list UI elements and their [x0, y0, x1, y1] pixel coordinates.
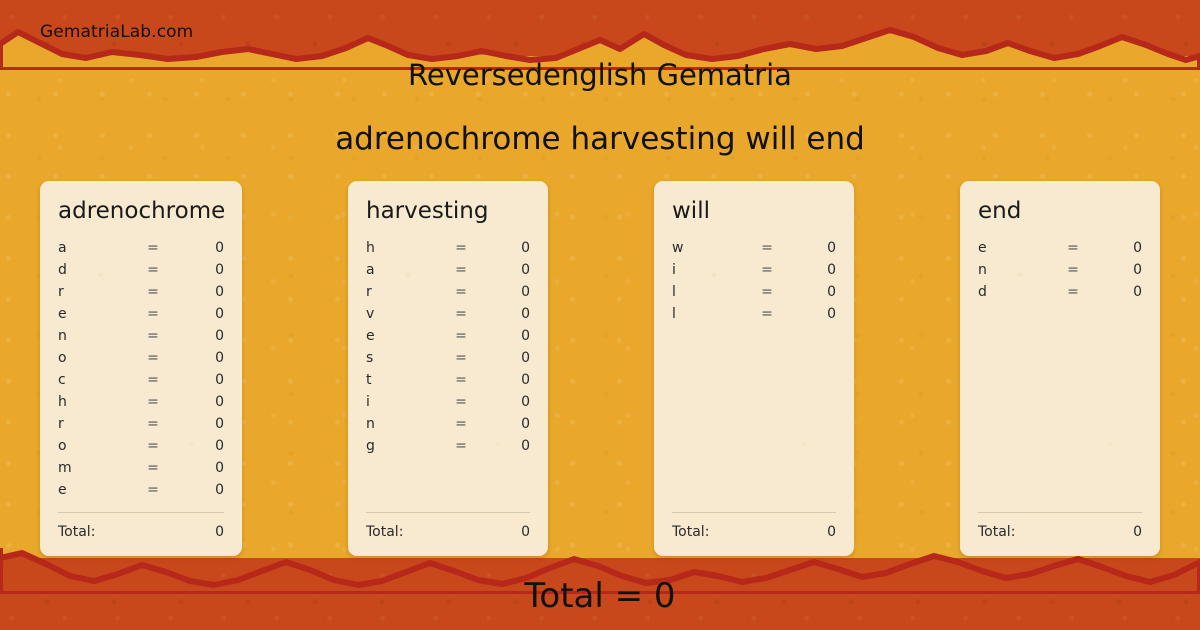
- letter-value: 0: [170, 350, 224, 366]
- letter-value: 0: [478, 328, 530, 344]
- letter-row: e=0: [978, 240, 1142, 262]
- letter-row: i=0: [366, 394, 530, 416]
- equals-sign: =: [444, 284, 478, 300]
- card-divider: [366, 512, 530, 513]
- letter-row: r=0: [58, 416, 224, 438]
- letter-label: l: [672, 284, 750, 300]
- card-total-value: 0: [521, 524, 530, 540]
- card-total-label: Total:: [366, 524, 521, 540]
- letter-row: t=0: [366, 372, 530, 394]
- letter-label: n: [58, 328, 136, 344]
- letter-value: 0: [170, 240, 224, 256]
- card-total-row: Total:0: [978, 524, 1142, 542]
- letter-row: d=0: [58, 262, 224, 284]
- letter-row: n=0: [58, 328, 224, 350]
- letter-row: d=0: [978, 284, 1142, 306]
- letter-value: 0: [170, 372, 224, 388]
- equals-sign: =: [750, 240, 784, 256]
- letter-value: 0: [784, 306, 836, 322]
- letter-row: h=0: [58, 394, 224, 416]
- letter-value: 0: [170, 438, 224, 454]
- letter-label: a: [58, 240, 136, 256]
- letter-label: a: [366, 262, 444, 278]
- letter-row: m=0: [58, 460, 224, 482]
- equals-sign: =: [1056, 284, 1090, 300]
- gematria-result-page: GematriaLab.com Reversedenglish Gematria…: [0, 0, 1200, 630]
- letter-label: h: [366, 240, 444, 256]
- letter-row: e=0: [58, 306, 224, 328]
- letter-value: 0: [478, 372, 530, 388]
- card-total-value: 0: [1133, 524, 1142, 540]
- letter-value: 0: [170, 262, 224, 278]
- letter-label: e: [58, 482, 136, 498]
- equals-sign: =: [444, 394, 478, 410]
- equals-sign: =: [136, 240, 170, 256]
- card-word: end: [978, 197, 1142, 226]
- grand-total: Total = 0: [0, 576, 1200, 616]
- letter-value: 0: [170, 284, 224, 300]
- letter-value: 0: [170, 416, 224, 432]
- letter-label: s: [366, 350, 444, 366]
- equals-sign: =: [136, 372, 170, 388]
- equals-sign: =: [444, 350, 478, 366]
- letter-row: r=0: [58, 284, 224, 306]
- letter-label: m: [58, 460, 136, 476]
- equals-sign: =: [136, 482, 170, 498]
- equals-sign: =: [444, 438, 478, 454]
- card-total-value: 0: [827, 524, 836, 540]
- letter-row-list: h=0a=0r=0v=0e=0s=0t=0i=0n=0g=0: [366, 240, 530, 512]
- equals-sign: =: [444, 306, 478, 322]
- equals-sign: =: [750, 284, 784, 300]
- letter-label: d: [978, 284, 1056, 300]
- letter-value: 0: [478, 262, 530, 278]
- letter-value: 0: [478, 438, 530, 454]
- equals-sign: =: [750, 306, 784, 322]
- letter-row: e=0: [366, 328, 530, 350]
- card-divider: [58, 512, 224, 513]
- letter-value: 0: [478, 416, 530, 432]
- letter-value: 0: [784, 262, 836, 278]
- card-total-row: Total:0: [366, 524, 530, 542]
- letter-value: 0: [170, 482, 224, 498]
- equals-sign: =: [136, 438, 170, 454]
- letter-row: n=0: [978, 262, 1142, 284]
- card-total-label: Total:: [672, 524, 827, 540]
- letter-row: c=0: [58, 372, 224, 394]
- equals-sign: =: [444, 240, 478, 256]
- letter-label: r: [366, 284, 444, 300]
- letter-row: o=0: [58, 350, 224, 372]
- card-total-value: 0: [215, 524, 224, 540]
- letter-row: g=0: [366, 438, 530, 460]
- letter-value: 0: [170, 460, 224, 476]
- equals-sign: =: [1056, 262, 1090, 278]
- card-word: will: [672, 197, 836, 226]
- letter-row-list: w=0i=0l=0l=0: [672, 240, 836, 512]
- letter-value: 0: [478, 240, 530, 256]
- letter-row: h=0: [366, 240, 530, 262]
- letter-label: r: [58, 284, 136, 300]
- letter-label: n: [978, 262, 1056, 278]
- phrase-title: adrenochrome harvesting will end: [0, 121, 1200, 157]
- letter-label: l: [672, 306, 750, 322]
- letter-label: n: [366, 416, 444, 432]
- letter-label: h: [58, 394, 136, 410]
- card-divider: [672, 512, 836, 513]
- letter-value: 0: [478, 306, 530, 322]
- letter-value: 0: [784, 240, 836, 256]
- card-word: adrenochrome: [58, 197, 224, 226]
- equals-sign: =: [444, 372, 478, 388]
- card-total-row: Total:0: [58, 524, 224, 542]
- word-card: willw=0i=0l=0l=0Total:0: [654, 181, 854, 556]
- card-total-label: Total:: [58, 524, 215, 540]
- equals-sign: =: [136, 328, 170, 344]
- letter-row: r=0: [366, 284, 530, 306]
- letter-row: w=0: [672, 240, 836, 262]
- letter-value: 0: [170, 306, 224, 322]
- card-word: harvesting: [366, 197, 530, 226]
- word-card: harvestingh=0a=0r=0v=0e=0s=0t=0i=0n=0g=0…: [348, 181, 548, 556]
- letter-row: a=0: [58, 240, 224, 262]
- letter-label: o: [58, 350, 136, 366]
- word-card-list: adrenochromea=0d=0r=0e=0n=0o=0c=0h=0r=0o…: [40, 181, 1160, 556]
- letter-value: 0: [170, 394, 224, 410]
- letter-value: 0: [1090, 262, 1142, 278]
- letter-row-list: e=0n=0d=0: [978, 240, 1142, 512]
- letter-label: w: [672, 240, 750, 256]
- card-total-label: Total:: [978, 524, 1133, 540]
- equals-sign: =: [444, 416, 478, 432]
- letter-label: e: [58, 306, 136, 322]
- letter-label: t: [366, 372, 444, 388]
- letter-value: 0: [784, 284, 836, 300]
- letter-row-list: a=0d=0r=0e=0n=0o=0c=0h=0r=0o=0m=0e=0: [58, 240, 224, 512]
- letter-row: l=0: [672, 284, 836, 306]
- equals-sign: =: [136, 284, 170, 300]
- letter-value: 0: [478, 350, 530, 366]
- equals-sign: =: [750, 262, 784, 278]
- letter-label: r: [58, 416, 136, 432]
- letter-row: e=0: [58, 482, 224, 504]
- letter-row: v=0: [366, 306, 530, 328]
- letter-value: 0: [1090, 284, 1142, 300]
- letter-value: 0: [170, 328, 224, 344]
- letter-label: e: [366, 328, 444, 344]
- letter-value: 0: [478, 394, 530, 410]
- letter-value: 0: [1090, 240, 1142, 256]
- equals-sign: =: [136, 306, 170, 322]
- equals-sign: =: [136, 394, 170, 410]
- letter-row: o=0: [58, 438, 224, 460]
- letter-label: i: [366, 394, 444, 410]
- letter-label: v: [366, 306, 444, 322]
- letter-row: i=0: [672, 262, 836, 284]
- card-divider: [978, 512, 1142, 513]
- letter-row: l=0: [672, 306, 836, 328]
- letter-label: c: [58, 372, 136, 388]
- equals-sign: =: [136, 416, 170, 432]
- letter-row: a=0: [366, 262, 530, 284]
- word-card: ende=0n=0d=0Total:0: [960, 181, 1160, 556]
- letter-label: g: [366, 438, 444, 454]
- letter-value: 0: [478, 284, 530, 300]
- letter-label: o: [58, 438, 136, 454]
- letter-label: i: [672, 262, 750, 278]
- word-card: adrenochromea=0d=0r=0e=0n=0o=0c=0h=0r=0o…: [40, 181, 242, 556]
- equals-sign: =: [136, 460, 170, 476]
- letter-label: d: [58, 262, 136, 278]
- equals-sign: =: [444, 262, 478, 278]
- card-total-row: Total:0: [672, 524, 836, 542]
- equals-sign: =: [1056, 240, 1090, 256]
- letter-label: e: [978, 240, 1056, 256]
- letter-row: n=0: [366, 416, 530, 438]
- cipher-title: Reversedenglish Gematria: [0, 58, 1200, 92]
- equals-sign: =: [136, 350, 170, 366]
- equals-sign: =: [136, 262, 170, 278]
- site-brand[interactable]: GematriaLab.com: [40, 22, 193, 42]
- letter-row: s=0: [366, 350, 530, 372]
- equals-sign: =: [444, 328, 478, 344]
